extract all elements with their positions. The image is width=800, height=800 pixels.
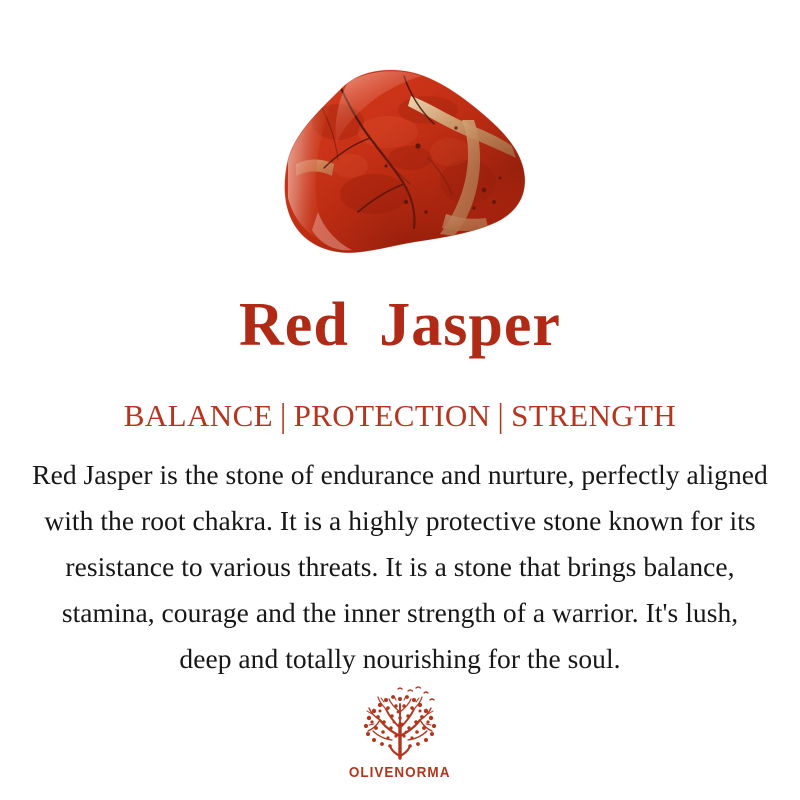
- keyword-balance: BALANCE: [124, 398, 273, 433]
- description-line-2: with the root chakra. It is a highly pro…: [0, 498, 800, 544]
- red-jasper-stone-image: [278, 62, 530, 272]
- product-description: Red Jasper is the stone of endurance and…: [0, 452, 800, 682]
- description-line-1: Red Jasper is the stone of endurance and…: [0, 452, 800, 498]
- keyword-separator-2: |: [490, 397, 511, 436]
- product-info-card: Red Jasper BALANCE|PROTECTION|STRENGTH R…: [0, 0, 800, 800]
- keyword-separator-1: |: [273, 397, 294, 436]
- brand-wordmark: OLIVENORMA: [349, 765, 451, 781]
- description-line-4: stamina, courage and the inner strength …: [0, 590, 800, 636]
- keyword-protection: PROTECTION: [294, 398, 491, 433]
- keyword-line: BALANCE|PROTECTION|STRENGTH: [0, 398, 800, 434]
- stone-illustration: [278, 62, 530, 272]
- tree-of-life-icon: [352, 684, 448, 764]
- description-line-5: deep and totally nourishing for the soul…: [0, 636, 800, 682]
- page-title: Red Jasper: [0, 292, 800, 358]
- description-line-3: resistance to various threats. It is a s…: [0, 544, 800, 590]
- brand-logo: OLIVENORMA: [0, 684, 800, 781]
- keyword-strength: STRENGTH: [511, 398, 676, 433]
